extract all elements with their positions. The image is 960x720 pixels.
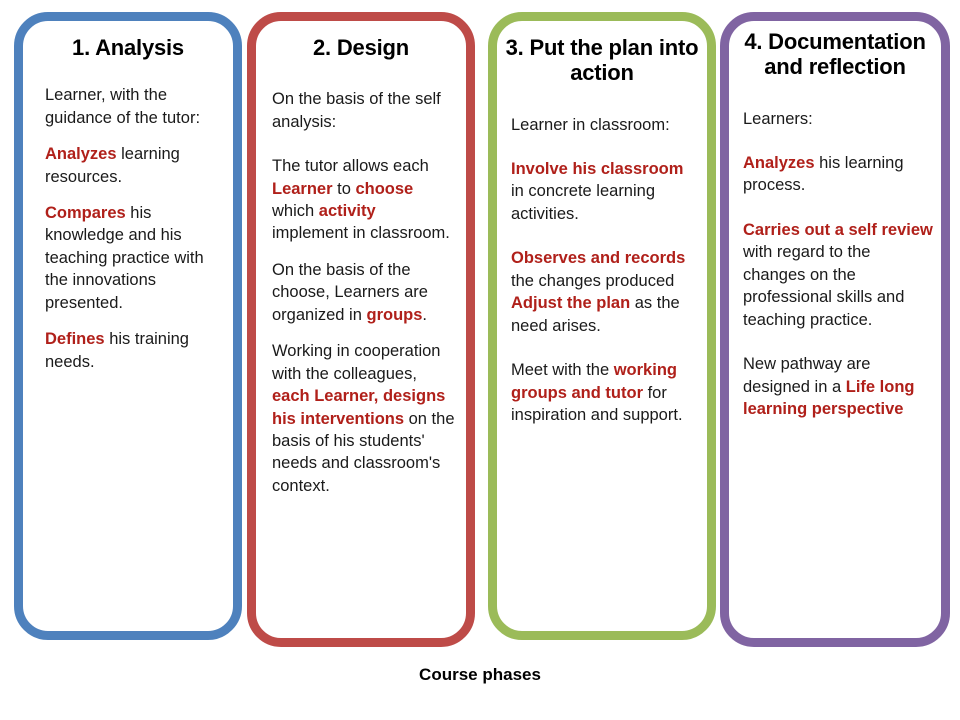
phase-3-paragraph-3: Observes and records the changes produce… [511,247,699,337]
phase-2-paragraph-2: The tutor allows each Learner to choose … [272,155,456,245]
text-run: Learner, with the guidance of the tutor: [45,86,200,126]
phase-4-paragraph-1: Learners: [743,108,933,130]
phase-title-1: 1. Analysis [23,21,233,60]
phase-3-paragraph-2: Involve his classroom in concrete learni… [511,158,699,225]
phase-2-paragraph-4: Working in cooperation with the colleagu… [272,340,456,497]
highlight-run: Defines [45,330,105,348]
highlight-run: activity [319,202,376,220]
text-run: in concrete learning activities. [511,182,655,222]
highlight-run: Involve his classroom [511,160,683,178]
text-run: Learner in classroom: [511,116,670,134]
text-run: On the basis of the self analysis: [272,90,441,130]
highlight-run: Observes and records [511,249,685,267]
text-run: . [422,306,427,324]
phase-title-2: 2. Design [256,21,466,60]
text-run: implement in classroom. [272,224,450,242]
phase-4-paragraph-4: New pathway are designed in a Life long … [743,353,933,420]
phase-3-paragraph-1: Learner in classroom: [511,114,699,136]
course-phases-diagram: 1. Analysis Learner, with the guidance o… [0,0,960,720]
diagram-caption: Course phases [0,665,960,685]
phase-title-3: 3. Put the plan into action [497,21,707,86]
highlight-run: Carries out a self review [743,221,933,239]
phase-box-put-plan-into-action[interactable]: 3. Put the plan into action Learner in c… [488,12,716,640]
phase-1-paragraph-2: Analyzes learning resources. [45,143,225,188]
phase-body-1: Learner, with the guidance of the tutor:… [23,60,233,373]
phase-box-documentation-and-reflection[interactable]: 4. Documentation and reflection Learners… [720,12,950,647]
highlight-run: Adjust the plan [511,294,630,312]
highlight-run: Analyzes [743,154,815,172]
highlight-run: Compares [45,204,126,222]
phase-box-analysis[interactable]: 1. Analysis Learner, with the guidance o… [14,12,242,640]
phase-3-paragraph-4: Meet with the working groups and tutor f… [511,359,699,426]
phase-1-paragraph-3: Compares his knowledge and his teaching … [45,202,225,314]
phase-4-paragraph-3: Carries out a self review with regard to… [743,219,933,331]
highlight-run: Learner [272,180,333,198]
text-run: to [333,180,356,198]
text-run: Meet with the [511,361,614,379]
phase-title-4: 4. Documentation and reflection [729,21,941,80]
phase-2-paragraph-1: On the basis of the self analysis: [272,88,456,133]
phase-box-design[interactable]: 2. Design On the basis of the self analy… [247,12,475,647]
phase-1-paragraph-4: Defines his training needs. [45,328,225,373]
text-run: Learners: [743,110,813,128]
phase-4-paragraph-2: Analyzes his learning process. [743,152,933,197]
highlight-run: choose [355,180,413,198]
text-run: with regard to the changes on the profes… [743,243,904,328]
text-run: which [272,202,319,220]
text-run: Working in cooperation with the colleagu… [272,342,440,382]
phase-body-4: Learners: Analyzes his learning process.… [729,80,941,421]
phase-2-paragraph-3: On the basis of the choose, Learners are… [272,259,456,326]
phase-1-paragraph-1: Learner, with the guidance of the tutor: [45,84,225,129]
phase-body-2: On the basis of the self analysis: The t… [256,60,466,497]
highlight-run: groups [366,306,422,324]
text-run: the changes produced [511,272,674,290]
highlight-run: Analyzes [45,145,117,163]
text-run: The tutor allows each [272,157,429,175]
phase-body-3: Learner in classroom: Involve his classr… [497,86,707,427]
